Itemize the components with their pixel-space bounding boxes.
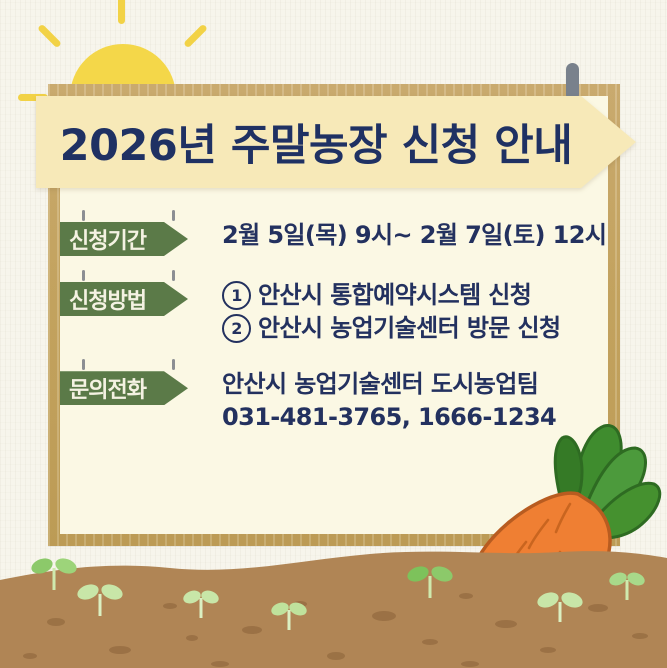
tag-label-application-method: 신청방법 [60, 282, 188, 316]
circled-number-icon: 2 [222, 314, 251, 343]
info-row: 신청기간 2월 5일(목) 9시~ 2월 7일(토) 12시 [60, 218, 620, 256]
tag-column: 신청기간 [60, 218, 208, 256]
tag-pins [76, 359, 192, 369]
value-column: 2월 5일(목) 9시~ 2월 7일(토) 12시 [208, 218, 620, 252]
poster-canvas: 2026년 주말농장 신청 안내 신청기간 2월 5일(목) 9시~ 2월 7일… [0, 0, 667, 668]
circled-number-icon: 1 [222, 281, 251, 310]
info-row: 신청방법 1 안산시 통합예약시스템 신청 2 안산시 농업기술센터 방문 신청 [60, 278, 620, 345]
tag-text: 신청기간 [69, 223, 146, 255]
tag-pins [76, 270, 192, 280]
pin-icon [82, 210, 85, 221]
tag-text: 신청방법 [69, 283, 146, 315]
pin-icon [82, 359, 85, 370]
info-line: 2 안산시 농업기술센터 방문 신청 [222, 312, 620, 345]
value-column: 1 안산시 통합예약시스템 신청 2 안산시 농업기술센터 방문 신청 [208, 278, 620, 345]
title-banner: 2026년 주말농장 신청 안내 [36, 96, 636, 188]
info-text: 2월 5일(목) 9시~ 2월 7일(토) 12시 [222, 219, 606, 252]
pin-icon [172, 210, 175, 221]
pin-icon [172, 359, 175, 370]
info-text: 안산시 농업기술센터 방문 신청 [258, 312, 561, 345]
tag-label-application-period: 신청기간 [60, 222, 188, 256]
tag-text: 문의전화 [69, 372, 146, 404]
info-text: 안산시 통합예약시스템 신청 [258, 279, 531, 312]
soil-ground [0, 538, 667, 668]
page-title: 2026년 주말농장 신청 안내 [36, 96, 596, 188]
tag-column: 문의전화 [60, 367, 208, 405]
info-line: 2월 5일(목) 9시~ 2월 7일(토) 12시 [222, 219, 620, 252]
tag-column: 신청방법 [60, 278, 208, 316]
tag-label-contact-phone: 문의전화 [60, 371, 188, 405]
tag-pins [76, 210, 192, 220]
info-text: 안산시 농업기술센터 도시농업팀 [222, 368, 538, 401]
info-line: 안산시 농업기술센터 도시농업팀 [222, 368, 620, 401]
info-line: 1 안산시 통합예약시스템 신청 [222, 279, 620, 312]
pin-icon [82, 270, 85, 281]
pin-icon [172, 270, 175, 281]
